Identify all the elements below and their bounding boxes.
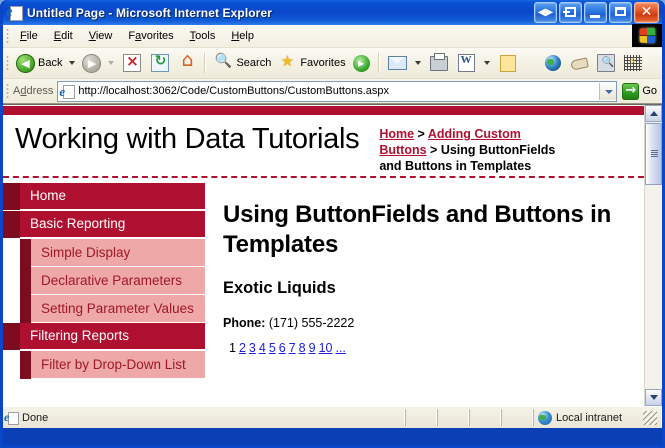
breadcrumb-link-home[interactable]: Home (379, 127, 414, 141)
pagination: 12345678910... (223, 341, 634, 355)
stop-icon (123, 54, 141, 72)
scroll-up-arrow-icon[interactable] (645, 105, 662, 122)
resize-grip[interactable] (643, 411, 657, 425)
menu-help[interactable]: Help (224, 28, 261, 44)
sidebar-item-basic-reporting[interactable]: Basic Reporting (3, 211, 205, 238)
sidebar-item-label: Simple Display (31, 239, 205, 267)
sidebar-item-declarative-parameters[interactable]: Declarative Parameters (20, 267, 205, 295)
browser-chrome: File Edit View Favorites Tools Help ◀ Ba… (3, 25, 662, 104)
addressbar-grip[interactable] (6, 83, 9, 99)
sidebar-tab (20, 267, 31, 295)
stop-button[interactable] (118, 50, 146, 76)
sidebar-item-label: Setting Parameter Values (31, 295, 205, 323)
go-arrow-icon (622, 83, 639, 100)
address-input[interactable]: e http://localhost:3062/Code/CustomButto… (57, 81, 617, 102)
toolbar-gap (526, 53, 536, 73)
toolbar-separator (204, 53, 206, 73)
zone-text: Local intranet (556, 412, 622, 424)
messenger-button[interactable] (566, 51, 592, 75)
star-icon (277, 53, 297, 73)
forward-button[interactable]: ▶ (79, 52, 104, 75)
favorites-button[interactable]: Favorites (274, 51, 348, 75)
breadcrumb: Home > Adding Custom Buttons > Using But… (379, 126, 564, 174)
discuss-button[interactable] (494, 50, 522, 77)
sidebar-tab (3, 323, 20, 350)
sidebar-item-label: Filter by Drop-Down List (31, 351, 205, 379)
pager-current-page: 1 (229, 341, 236, 355)
browser-window: e Untitled Page - Microsoft Internet Exp… (0, 0, 665, 448)
sidebar-item-home[interactable]: Home (3, 183, 205, 210)
breadcrumb-separator-2: > (427, 143, 441, 157)
pager-link[interactable]: 7 (289, 341, 296, 355)
globe-button[interactable] (540, 51, 566, 75)
address-label: Address (13, 85, 53, 97)
pager-link[interactable]: 8 (299, 341, 306, 355)
search-button[interactable]: Search (210, 51, 274, 75)
sidebar-item-label: Filtering Reports (20, 323, 205, 350)
note-icon (500, 55, 516, 72)
sidebar-item-filter-by-drop-down-list[interactable]: Filter by Drop-Down List (20, 351, 205, 379)
globe-icon (545, 55, 561, 71)
status-pane-blank (469, 409, 501, 426)
messenger-icon (570, 56, 588, 70)
vertical-scrollbar[interactable] (644, 105, 662, 406)
menu-file[interactable]: File (13, 28, 45, 44)
sidebar-item-label: Basic Reporting (20, 211, 205, 238)
menubar-grip[interactable] (6, 28, 9, 44)
home-button[interactable] (174, 51, 200, 75)
pager-link-next[interactable]: ... (335, 341, 345, 355)
phone-value: (171) 555-2222 (269, 316, 354, 330)
home-icon (177, 53, 197, 73)
windows-flag-logo (632, 24, 662, 47)
security-zone[interactable]: Local intranet (533, 409, 662, 426)
sidebar-tab (20, 351, 31, 379)
refresh-icon (151, 54, 169, 72)
back-history-chevron-down-icon[interactable] (69, 61, 75, 65)
edit-chevron-down-icon[interactable] (484, 61, 490, 65)
content-heading: Using ButtonFields and Buttons in Templa… (223, 200, 634, 260)
status-pane-blank (501, 409, 533, 426)
menu-bar: File Edit View Favorites Tools Help (3, 25, 662, 48)
page-top-rule (3, 106, 644, 115)
sidebar-tab (3, 183, 20, 210)
pager-link[interactable]: 2 (239, 341, 246, 355)
refresh-button[interactable] (146, 50, 174, 76)
ie-page-icon: e (60, 84, 75, 99)
window-title: Untitled Page - Microsoft Internet Explo… (27, 6, 534, 20)
edit-button[interactable] (453, 50, 480, 76)
title-bar: e Untitled Page - Microsoft Internet Exp… (3, 0, 662, 25)
menu-tools[interactable]: Tools (183, 28, 223, 44)
media-icon (353, 55, 370, 72)
mail-button[interactable] (384, 50, 411, 76)
status-bar: e Done Local intranet (3, 406, 662, 428)
research-button[interactable] (592, 50, 620, 76)
pager-link[interactable]: 6 (279, 341, 286, 355)
mail-chevron-down-icon[interactable] (415, 61, 421, 65)
research-icon (597, 54, 615, 72)
status-pane-blank (405, 409, 437, 426)
scrollbar-track[interactable] (645, 185, 662, 389)
status-message: e Done (3, 409, 405, 426)
scrollbar-thumb[interactable] (645, 123, 662, 185)
ie-page-icon: e (7, 5, 23, 21)
phone-label: Phone: (223, 316, 265, 330)
back-button[interactable]: ◀ Back (13, 52, 65, 75)
main-toolbar: ◀ Back ▶ Search Fa (3, 48, 662, 79)
edit-word-icon (458, 54, 475, 72)
pager-link[interactable]: 9 (309, 341, 316, 355)
menu-view[interactable]: View (82, 28, 120, 44)
toolbar-grip[interactable] (6, 55, 9, 71)
web-page: Working with Data Tutorials Home > Addin… (3, 105, 644, 406)
script-button[interactable] (620, 51, 646, 75)
sidebar-tab (20, 295, 31, 323)
chevron-down-icon[interactable] (599, 83, 616, 100)
print-button[interactable] (425, 50, 453, 77)
back-arrow-icon: ◀ (16, 54, 35, 73)
left-right-arrow-icon[interactable]: ◀▶ (534, 2, 557, 23)
close-button[interactable]: ✕ (634, 2, 659, 23)
sidebar-item-setting-parameter-values[interactable]: Setting Parameter Values (20, 295, 205, 323)
phone-row: Phone: (171) 555-2222 (223, 316, 634, 330)
forward-history-chevron-down-icon (108, 61, 114, 65)
search-icon (213, 53, 233, 73)
sidebar-item-filtering-reports[interactable]: Filtering Reports (3, 323, 205, 350)
sidebar-item-label: Declarative Parameters (31, 267, 205, 295)
ie-page-icon: e (5, 411, 19, 425)
minimize-button[interactable] (584, 2, 607, 23)
page-header: Working with Data Tutorials Home > Addin… (3, 115, 644, 174)
pager-link[interactable]: 5 (269, 341, 276, 355)
window-controls: ◀▶ ✕ (534, 2, 662, 23)
favorites-label: Favorites (300, 57, 345, 69)
go-button[interactable]: Go (619, 83, 660, 100)
main-content: Using ButtonFields and Buttons in Templa… (205, 178, 644, 379)
search-label: Search (236, 57, 271, 69)
address-url-text: http://localhost:3062/Code/CustomButtons… (78, 85, 599, 97)
back-label: Back (38, 57, 62, 69)
print-icon (430, 56, 448, 71)
media-button[interactable] (349, 52, 374, 75)
forward-arrow-icon: ▶ (82, 54, 101, 73)
sidebar-nav: Home Basic Reporting Simple Display (3, 178, 205, 379)
sidebar-item-label: Home (20, 183, 205, 210)
sidebar-tab (20, 239, 31, 267)
content-subheading: Exotic Liquids (223, 278, 634, 298)
status-pane-blank (437, 409, 469, 426)
menu-favorites[interactable]: Favorites (121, 28, 180, 44)
scroll-down-arrow-icon[interactable] (645, 389, 662, 406)
page-title: Working with Data Tutorials (15, 120, 359, 158)
menu-edit[interactable]: Edit (47, 28, 80, 44)
page-viewport: Working with Data Tutorials Home > Addin… (3, 104, 662, 406)
script-icon (624, 55, 642, 71)
pager-link[interactable]: 4 (259, 341, 266, 355)
toolbar-separator (378, 53, 380, 73)
breadcrumb-separator-1: > (414, 127, 428, 141)
maximize-button[interactable] (609, 2, 632, 23)
go-label: Go (642, 85, 657, 97)
mail-icon (388, 56, 407, 70)
page-body: Home Basic Reporting Simple Display (3, 178, 644, 379)
intranet-globe-icon (538, 411, 552, 425)
sidebar-item-simple-display[interactable]: Simple Display (20, 239, 205, 267)
pager-link[interactable]: 10 (319, 341, 333, 355)
address-bar: Address e http://localhost:3062/Code/Cus… (3, 79, 662, 104)
pager-link[interactable]: 3 (249, 341, 256, 355)
status-text: Done (22, 412, 48, 424)
move-window-icon[interactable] (559, 2, 582, 23)
sidebar-tab (3, 211, 20, 238)
